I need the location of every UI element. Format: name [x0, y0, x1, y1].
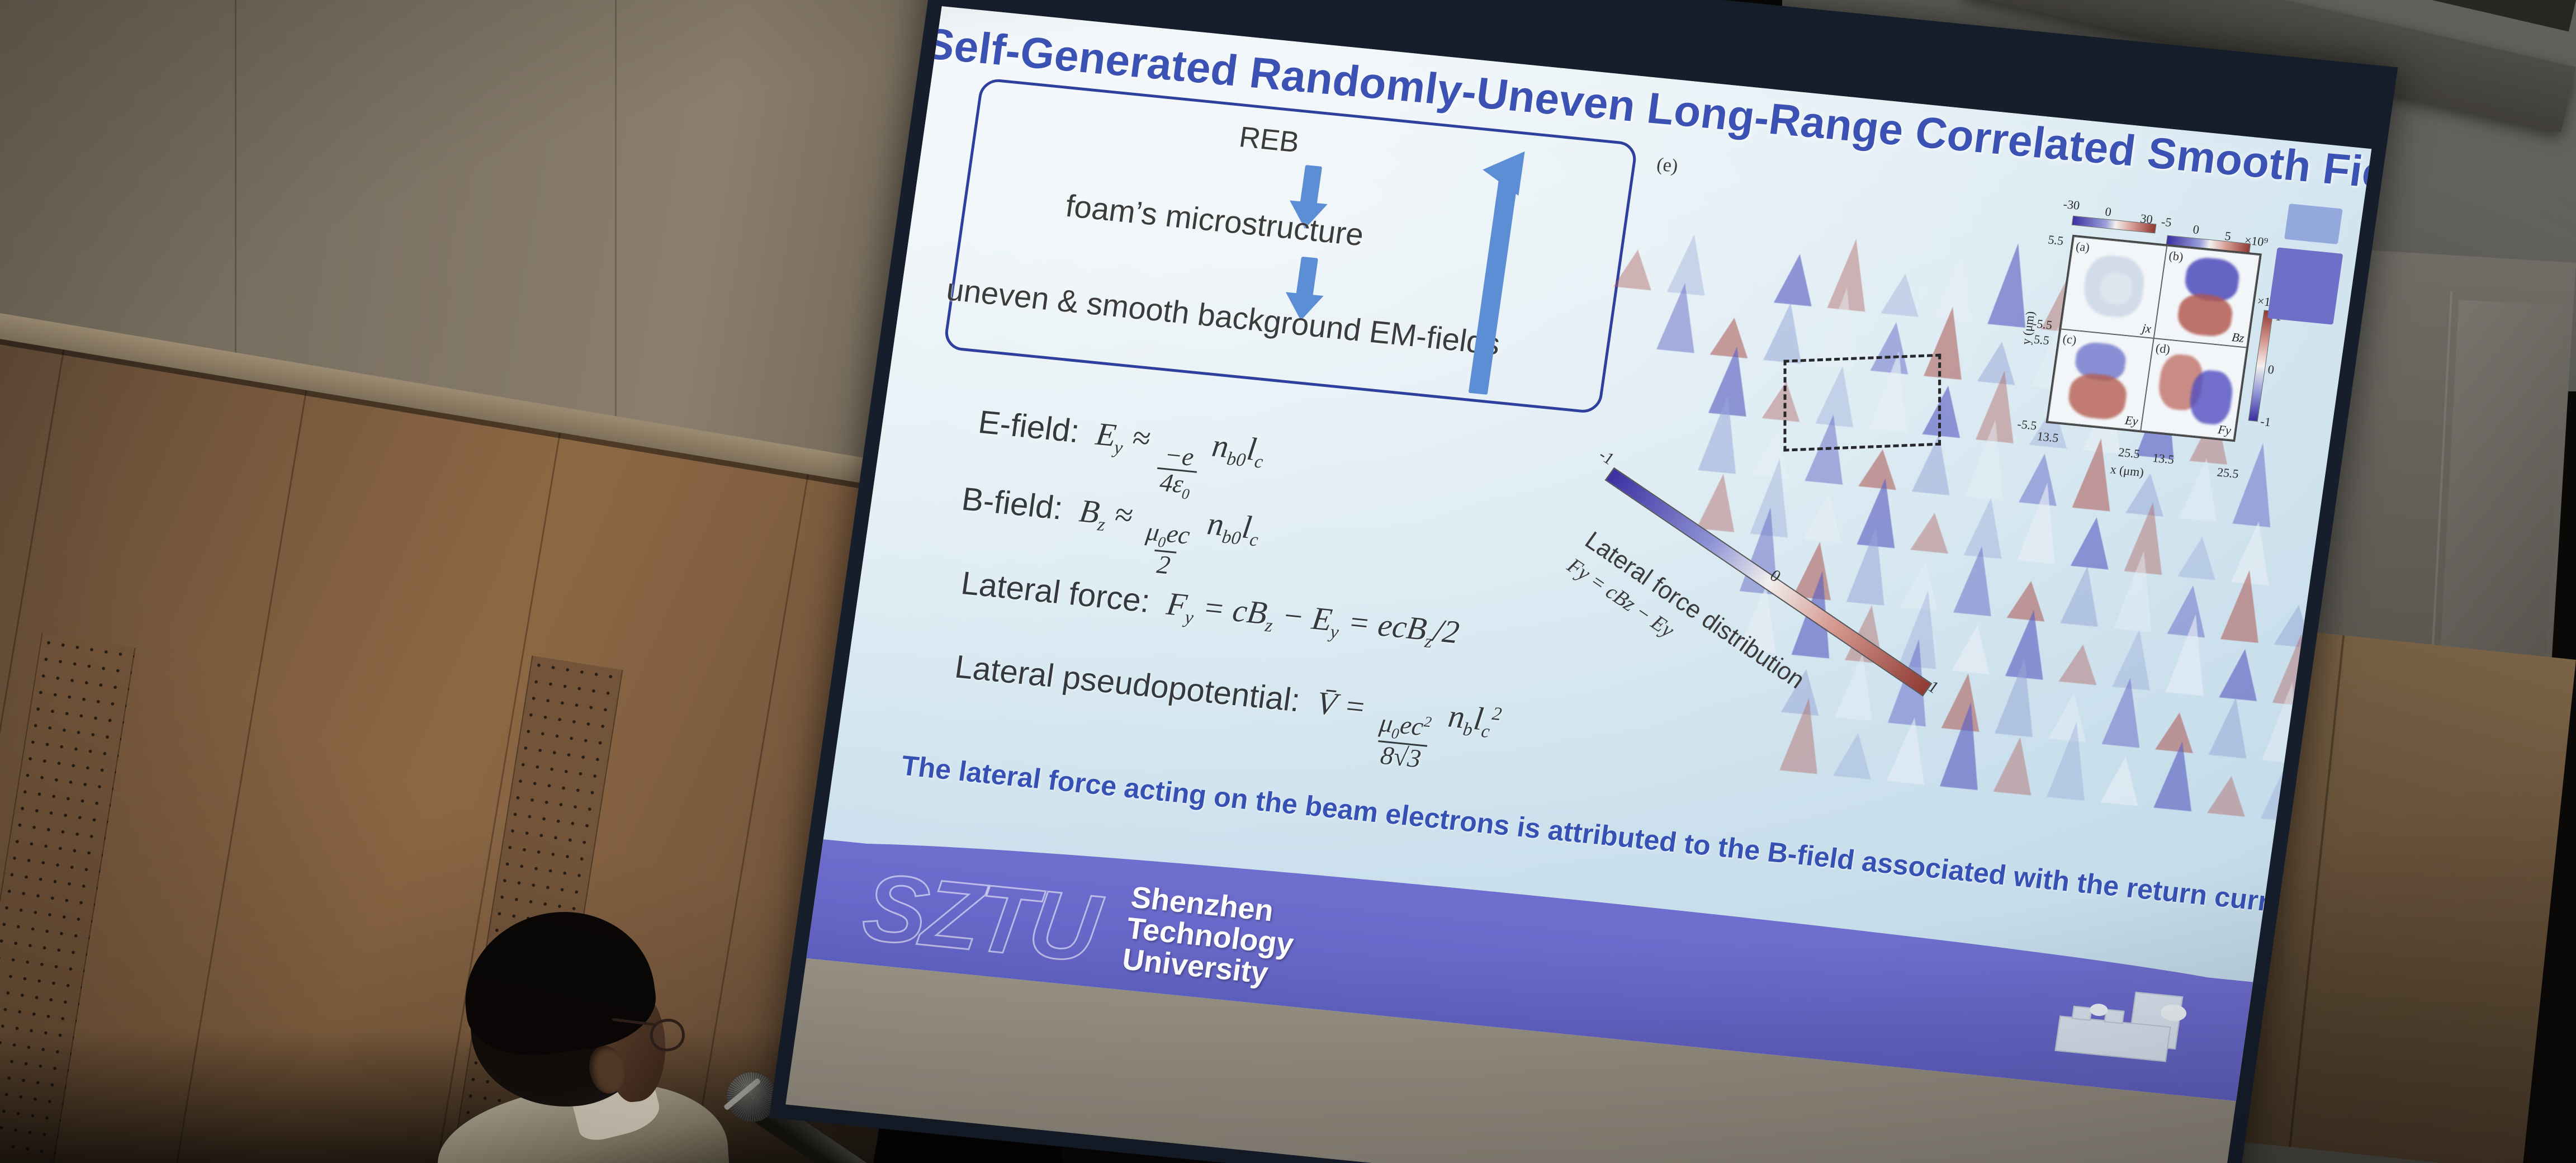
inset-figure: -30 0 30 -5 0 5 ×10⁹ ×10¹² 1 0 -1 — [2010, 178, 2308, 465]
inset-panel-b-tag: (b) — [2168, 248, 2184, 264]
university-name: Shenzhen Technology University — [1120, 882, 1300, 992]
equation-e-label: E-field: — [976, 404, 1082, 450]
figure-panel-e: (e) -1 0 1 Lateral force distribution Fy… — [1543, 126, 2355, 850]
inset-ytick-mid-pos: 5.5 — [2033, 332, 2050, 348]
surface-peak — [1993, 735, 2039, 796]
sztu-watermark-logo: SZTU — [857, 852, 1102, 984]
inset-cbar2-tick-mid: 0 — [2192, 222, 2200, 237]
inset-xtick-4: 25.5 — [2216, 465, 2239, 481]
legend-chip-dark — [2267, 247, 2343, 324]
surface-peak — [2207, 774, 2251, 817]
inset-panel-c-tag: (c) — [2062, 332, 2077, 347]
flow-label-reb: REB — [1237, 120, 1301, 159]
legend-chip-light — [2284, 204, 2343, 244]
inset-panel-a-quantity: jx — [2141, 321, 2152, 336]
inset-cbar1-tick-mid: 0 — [2104, 205, 2113, 220]
inset-panel-d-quantity: Fy — [2217, 422, 2232, 438]
inset-cbar3-tick-min: -1 — [2260, 414, 2272, 430]
equation-pseudopotential: Lateral pseudopotential: V̄ = μ0ec28√3 n… — [947, 648, 1504, 780]
inset-xtick-1: 13.5 — [2036, 429, 2059, 446]
inset-panel-a-tag: (a) — [2075, 239, 2091, 255]
inset-cbar3-tick-mid: 0 — [2267, 362, 2275, 377]
inset-panel-c: (c) Ey — [2048, 329, 2154, 431]
projection-screen: Self-Generated Randomly-Uneven Long-Rang… — [769, 0, 2398, 1163]
inset-ytick-top1: 5.5 — [2047, 233, 2064, 248]
campus-building-icon — [2051, 984, 2189, 1069]
inset-panel-a: (a) jx — [2061, 237, 2167, 338]
inset-panel-grid: (a) jx (b) Bz (c) — [2045, 235, 2262, 442]
inset-cbar2-exponent: ×10⁹ — [2243, 233, 2269, 250]
presentation-slide: Self-Generated Randomly-Uneven Long-Rang… — [806, 6, 2371, 1101]
arrow-left-icon — [1461, 145, 1525, 196]
surface-peak — [1940, 701, 1990, 790]
highlight-dashed-box — [1783, 354, 1941, 452]
inset-cbar1-tick-min: -30 — [2062, 197, 2081, 213]
equation-potential-label: Lateral pseudopotential: — [953, 649, 1303, 719]
photo-scene: Self-Generated Randomly-Uneven Long-Rang… — [0, 0, 2576, 1163]
inset-panel-b-quantity: Bz — [2231, 330, 2246, 346]
inset-panel-c-quantity: Ey — [2124, 413, 2139, 429]
inset-xtick-3: 13.5 — [2152, 451, 2175, 467]
inset-cbar2-tick-min: -5 — [2160, 215, 2172, 230]
inset-ytick-bottom: -5.5 — [2016, 417, 2038, 433]
surface-peak — [2100, 755, 2145, 806]
inset-panel-d: (d) Fy — [2141, 338, 2247, 440]
surface-peak — [2153, 740, 2201, 812]
inset-cbar1-tick-max: 30 — [2139, 211, 2154, 227]
surface-peak — [2047, 720, 2095, 801]
inset-xtick-2: 25.5 — [2118, 445, 2141, 462]
inset-panel-d-tag: (d) — [2154, 341, 2171, 357]
inset-panel-b: (b) Bz — [2154, 246, 2260, 348]
